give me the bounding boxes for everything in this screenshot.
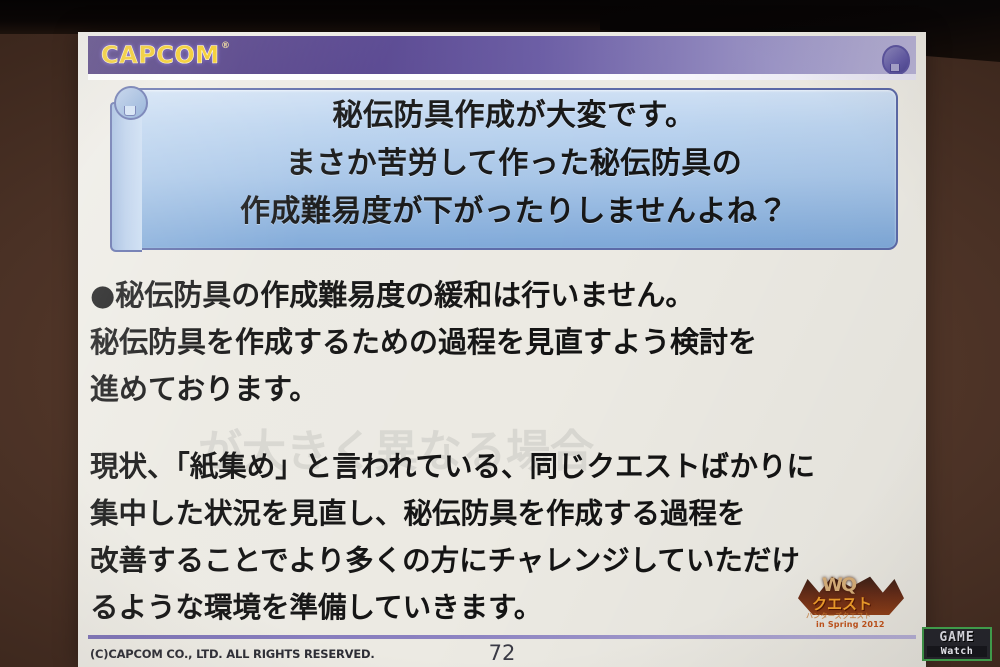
answer-paragraph-1: ●秘伝防具の作成難易度の緩和は行いません。 秘伝防具を作成するための過程を見直す… bbox=[90, 272, 914, 413]
footer-divider bbox=[88, 635, 916, 639]
answer-p2-line-2: 集中した状況を見直し、秘伝防具を作成する過程を bbox=[90, 490, 914, 537]
slide-screen: CAPCOM ® 秘伝防具作成が大変です。 まさか苦労して作った秘伝防具の 作成… bbox=[78, 32, 926, 667]
capcom-header-bar: CAPCOM ® bbox=[88, 36, 916, 74]
answer-p1-line-2: 秘伝防具を作成するための過程を見直すよう検討を bbox=[90, 319, 914, 366]
scroll-spine bbox=[110, 102, 142, 252]
game-watch-watermark: GAME Watch bbox=[922, 627, 992, 661]
answer-body: ●秘伝防具の作成難易度の緩和は行いません。 秘伝防具を作成するための過程を見直す… bbox=[90, 272, 914, 661]
answer-p1-line-1: ●秘伝防具の作成難易度の緩和は行いません。 bbox=[90, 272, 914, 319]
registered-trademark-icon: ® bbox=[221, 41, 230, 51]
scroll-curl-icon-header bbox=[882, 45, 910, 75]
event-logo-date: in Spring 2012 bbox=[816, 620, 885, 629]
answer-p2-line-4: るような環境を準備していきます。 bbox=[90, 584, 914, 631]
question-line-3: 作成難易度が下がったりしませんよね？ bbox=[156, 188, 872, 236]
photo-of-projection-screen: CAPCOM ® 秘伝防具作成が大変です。 まさか苦労して作った秘伝防具の 作成… bbox=[0, 0, 1000, 667]
question-line-1: 秘伝防具作成が大変です。 bbox=[156, 92, 872, 140]
question-text: 秘伝防具作成が大変です。 まさか苦労して作った秘伝防具の 作成難易度が下がったり… bbox=[156, 92, 872, 236]
answer-p2-line-1: 現状、「紙集め」と言われている、同じクエストばかりに bbox=[90, 443, 914, 490]
question-line-2: まさか苦労して作った秘伝防具の bbox=[156, 140, 872, 188]
answer-p1-line-3: 進めております。 bbox=[90, 366, 914, 413]
question-scroll-banner: 秘伝防具作成が大変です。 まさか苦労して作った秘伝防具の 作成難易度が下がったり… bbox=[110, 86, 894, 248]
answer-p2-line-3: 改善することでより多くの方にチャレンジしていただけ bbox=[90, 537, 914, 584]
watermark-watch-text: Watch bbox=[927, 646, 987, 657]
capcom-logo: CAPCOM bbox=[101, 41, 220, 69]
header-underline bbox=[88, 74, 916, 80]
scroll-curl-icon-banner bbox=[114, 86, 148, 120]
page-number: 72 bbox=[78, 641, 926, 665]
answer-paragraph-2: 現状、「紙集め」と言われている、同じクエストばかりに 集中した状況を見直し、秘伝… bbox=[90, 443, 914, 631]
watermark-game-text: GAME bbox=[924, 630, 990, 645]
event-logo: WQ クエスト ハンターズクエスト in Spring 2012 bbox=[796, 573, 906, 633]
